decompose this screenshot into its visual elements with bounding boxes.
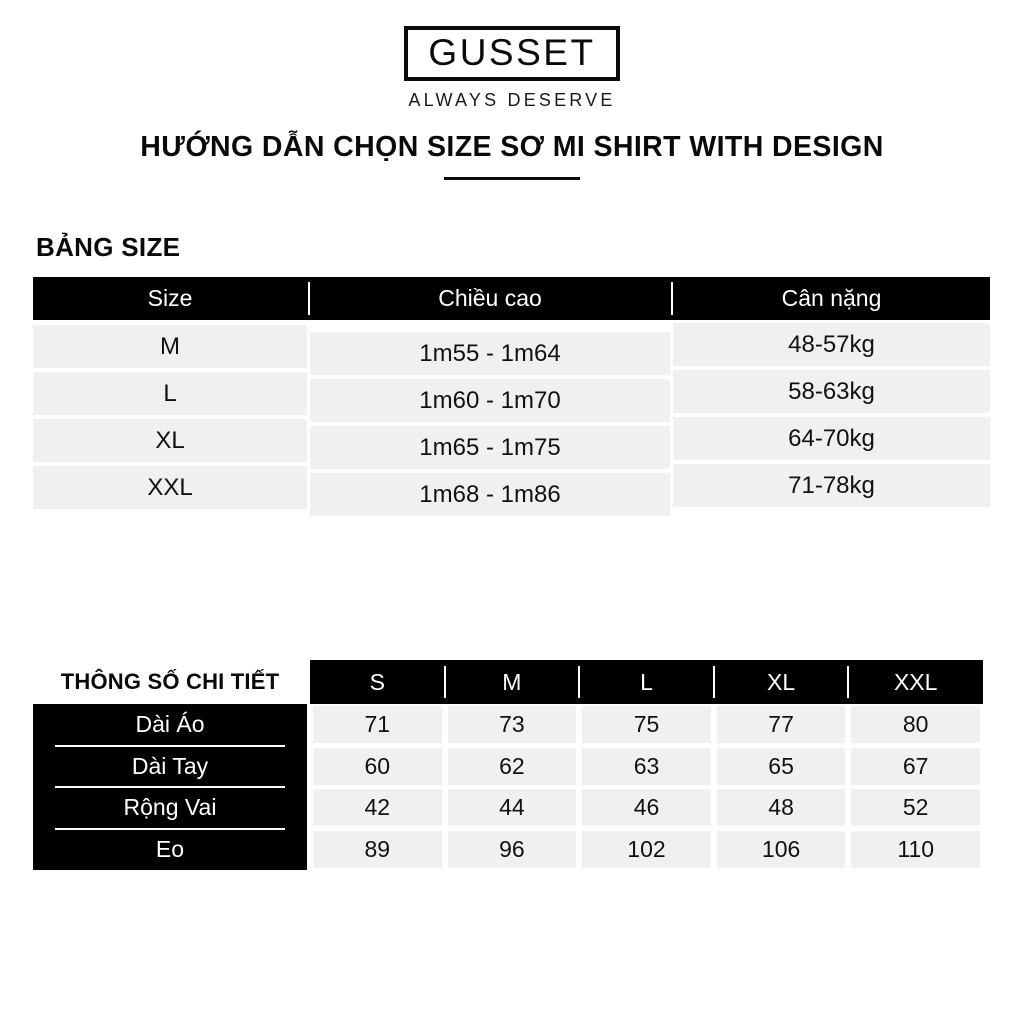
spec-table-cell: 46 xyxy=(582,789,711,826)
spec-table-col-m: M xyxy=(445,660,580,704)
spec-table-cell: 102 xyxy=(582,831,711,868)
size-table-cell-weight: 64-70kg xyxy=(673,417,990,460)
spec-header-divider-3 xyxy=(713,666,715,698)
size-table-cell-height: 1m65 - 1m75 xyxy=(310,426,670,469)
spec-table-cell: 42 xyxy=(313,789,442,826)
size-guide-page: GUSSET ALWAYS DESERVE HƯỚNG DẪN CHỌN SIZ… xyxy=(0,0,1024,1024)
size-table-col-size: Size xyxy=(33,277,307,320)
size-table-cell-height: 1m60 - 1m70 xyxy=(310,379,670,422)
spec-table-cell: 89 xyxy=(313,831,442,868)
spec-table-cell: 75 xyxy=(582,706,711,743)
brand-name: GUSSET xyxy=(428,34,595,71)
size-table-cell-size: XXL xyxy=(33,466,307,509)
spec-table-cell: 52 xyxy=(851,789,980,826)
spec-row-label: Dài Tay xyxy=(33,746,307,788)
spec-table-cell: 48 xyxy=(717,789,846,826)
size-table-cell-size: L xyxy=(33,372,307,415)
spec-table-cell: 67 xyxy=(851,748,980,785)
size-table-cell-height: 1m68 - 1m86 xyxy=(310,473,670,516)
spec-table-cell: 106 xyxy=(717,831,846,868)
spec-table-cell: 71 xyxy=(313,706,442,743)
spec-table-col-s: S xyxy=(310,660,445,704)
size-table-cell-size: M xyxy=(33,325,307,368)
size-table-heading: BẢNG SIZE xyxy=(36,232,180,263)
spec-table-cell: 77 xyxy=(717,706,846,743)
spec-row-label: Rộng Vai xyxy=(33,787,307,829)
brand-block: GUSSET ALWAYS DESERVE xyxy=(0,26,1024,111)
size-table-cell-size: XL xyxy=(33,419,307,462)
size-table-header-row: Size Chiều cao Cân nặng xyxy=(33,277,990,320)
spec-table-cell: 73 xyxy=(448,706,577,743)
spec-table-cell: 65 xyxy=(717,748,846,785)
size-table-cell-weight: 71-78kg xyxy=(673,464,990,507)
spec-table-cell: 44 xyxy=(448,789,577,826)
spec-table-row-labels: Dài ÁoDài TayRộng VaiEo xyxy=(33,704,307,870)
spec-header-divider-1 xyxy=(444,666,446,698)
spec-table-cell: 80 xyxy=(851,706,980,743)
spec-header-divider-2 xyxy=(578,666,580,698)
spec-header-divider-4 xyxy=(847,666,849,698)
size-table-col-weight: Cân nặng xyxy=(673,277,990,320)
spec-table-header-row: SMLXLXXL xyxy=(310,660,983,704)
brand-tagline: ALWAYS DESERVE xyxy=(0,90,1024,111)
spec-table-col-xl: XL xyxy=(714,660,849,704)
brand-logo-box: GUSSET xyxy=(404,26,619,81)
spec-table-cell: 63 xyxy=(582,748,711,785)
size-table-cell-weight: 48-57kg xyxy=(673,323,990,366)
size-table-cell-weight: 58-63kg xyxy=(673,370,990,413)
spec-row-label: Eo xyxy=(33,829,307,871)
spec-table-cell: 96 xyxy=(448,831,577,868)
page-title: HƯỚNG DẪN CHỌN SIZE SƠ MI SHIRT WITH DES… xyxy=(0,131,1024,164)
size-table-cell-height: 1m55 - 1m64 xyxy=(310,332,670,375)
spec-table-cell: 62 xyxy=(448,748,577,785)
spec-table-corner-label: THÔNG SỐ CHI TIẾT xyxy=(33,660,307,704)
spec-table-cell: 60 xyxy=(313,748,442,785)
title-divider xyxy=(444,177,580,180)
spec-table-col-xxl: XXL xyxy=(848,660,983,704)
size-table-col-height: Chiều cao xyxy=(310,277,670,320)
spec-table-col-l: L xyxy=(579,660,714,704)
spec-row-label: Dài Áo xyxy=(33,704,307,746)
spec-table-cell: 110 xyxy=(851,831,980,868)
